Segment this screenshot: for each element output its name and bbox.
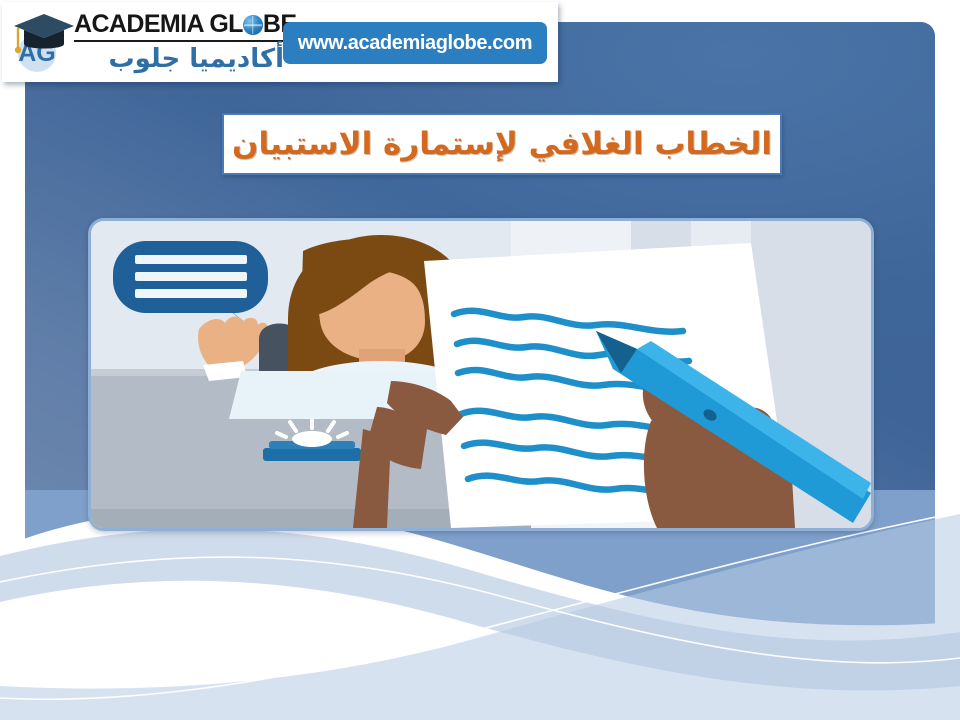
- slide-title-box: الخطاب الغلافي لإستمارة الاستبيان: [222, 113, 782, 175]
- brand-divider: [74, 40, 286, 42]
- brand-name-english: ACADEMIA GLBE: [74, 9, 284, 39]
- website-url-text: www.academiaglobe.com: [298, 32, 532, 55]
- brand-en-part1: ACADEMIA GL: [74, 10, 243, 38]
- brand-logo-box: AG ACADEMIA GLBE أكاديميا جلوب www.acade…: [2, 2, 558, 82]
- illustration-frame: [88, 218, 874, 531]
- website-url-banner[interactable]: www.academiaglobe.com: [283, 22, 547, 64]
- slide-canvas: AG ACADEMIA GLBE أكاديميا جلوب www.acade…: [0, 0, 960, 720]
- illustration-questionnaire-scene: [91, 221, 871, 528]
- brand-name-arabic: أكاديميا جلوب: [74, 43, 284, 75]
- brand-lockup: ACADEMIA GLBE أكاديميا جلوب: [74, 9, 284, 75]
- page-title: الخطاب الغلافي لإستمارة الاستبيان: [232, 126, 772, 162]
- graduation-cap-icon: AG: [10, 8, 78, 76]
- globe-icon: [243, 15, 263, 35]
